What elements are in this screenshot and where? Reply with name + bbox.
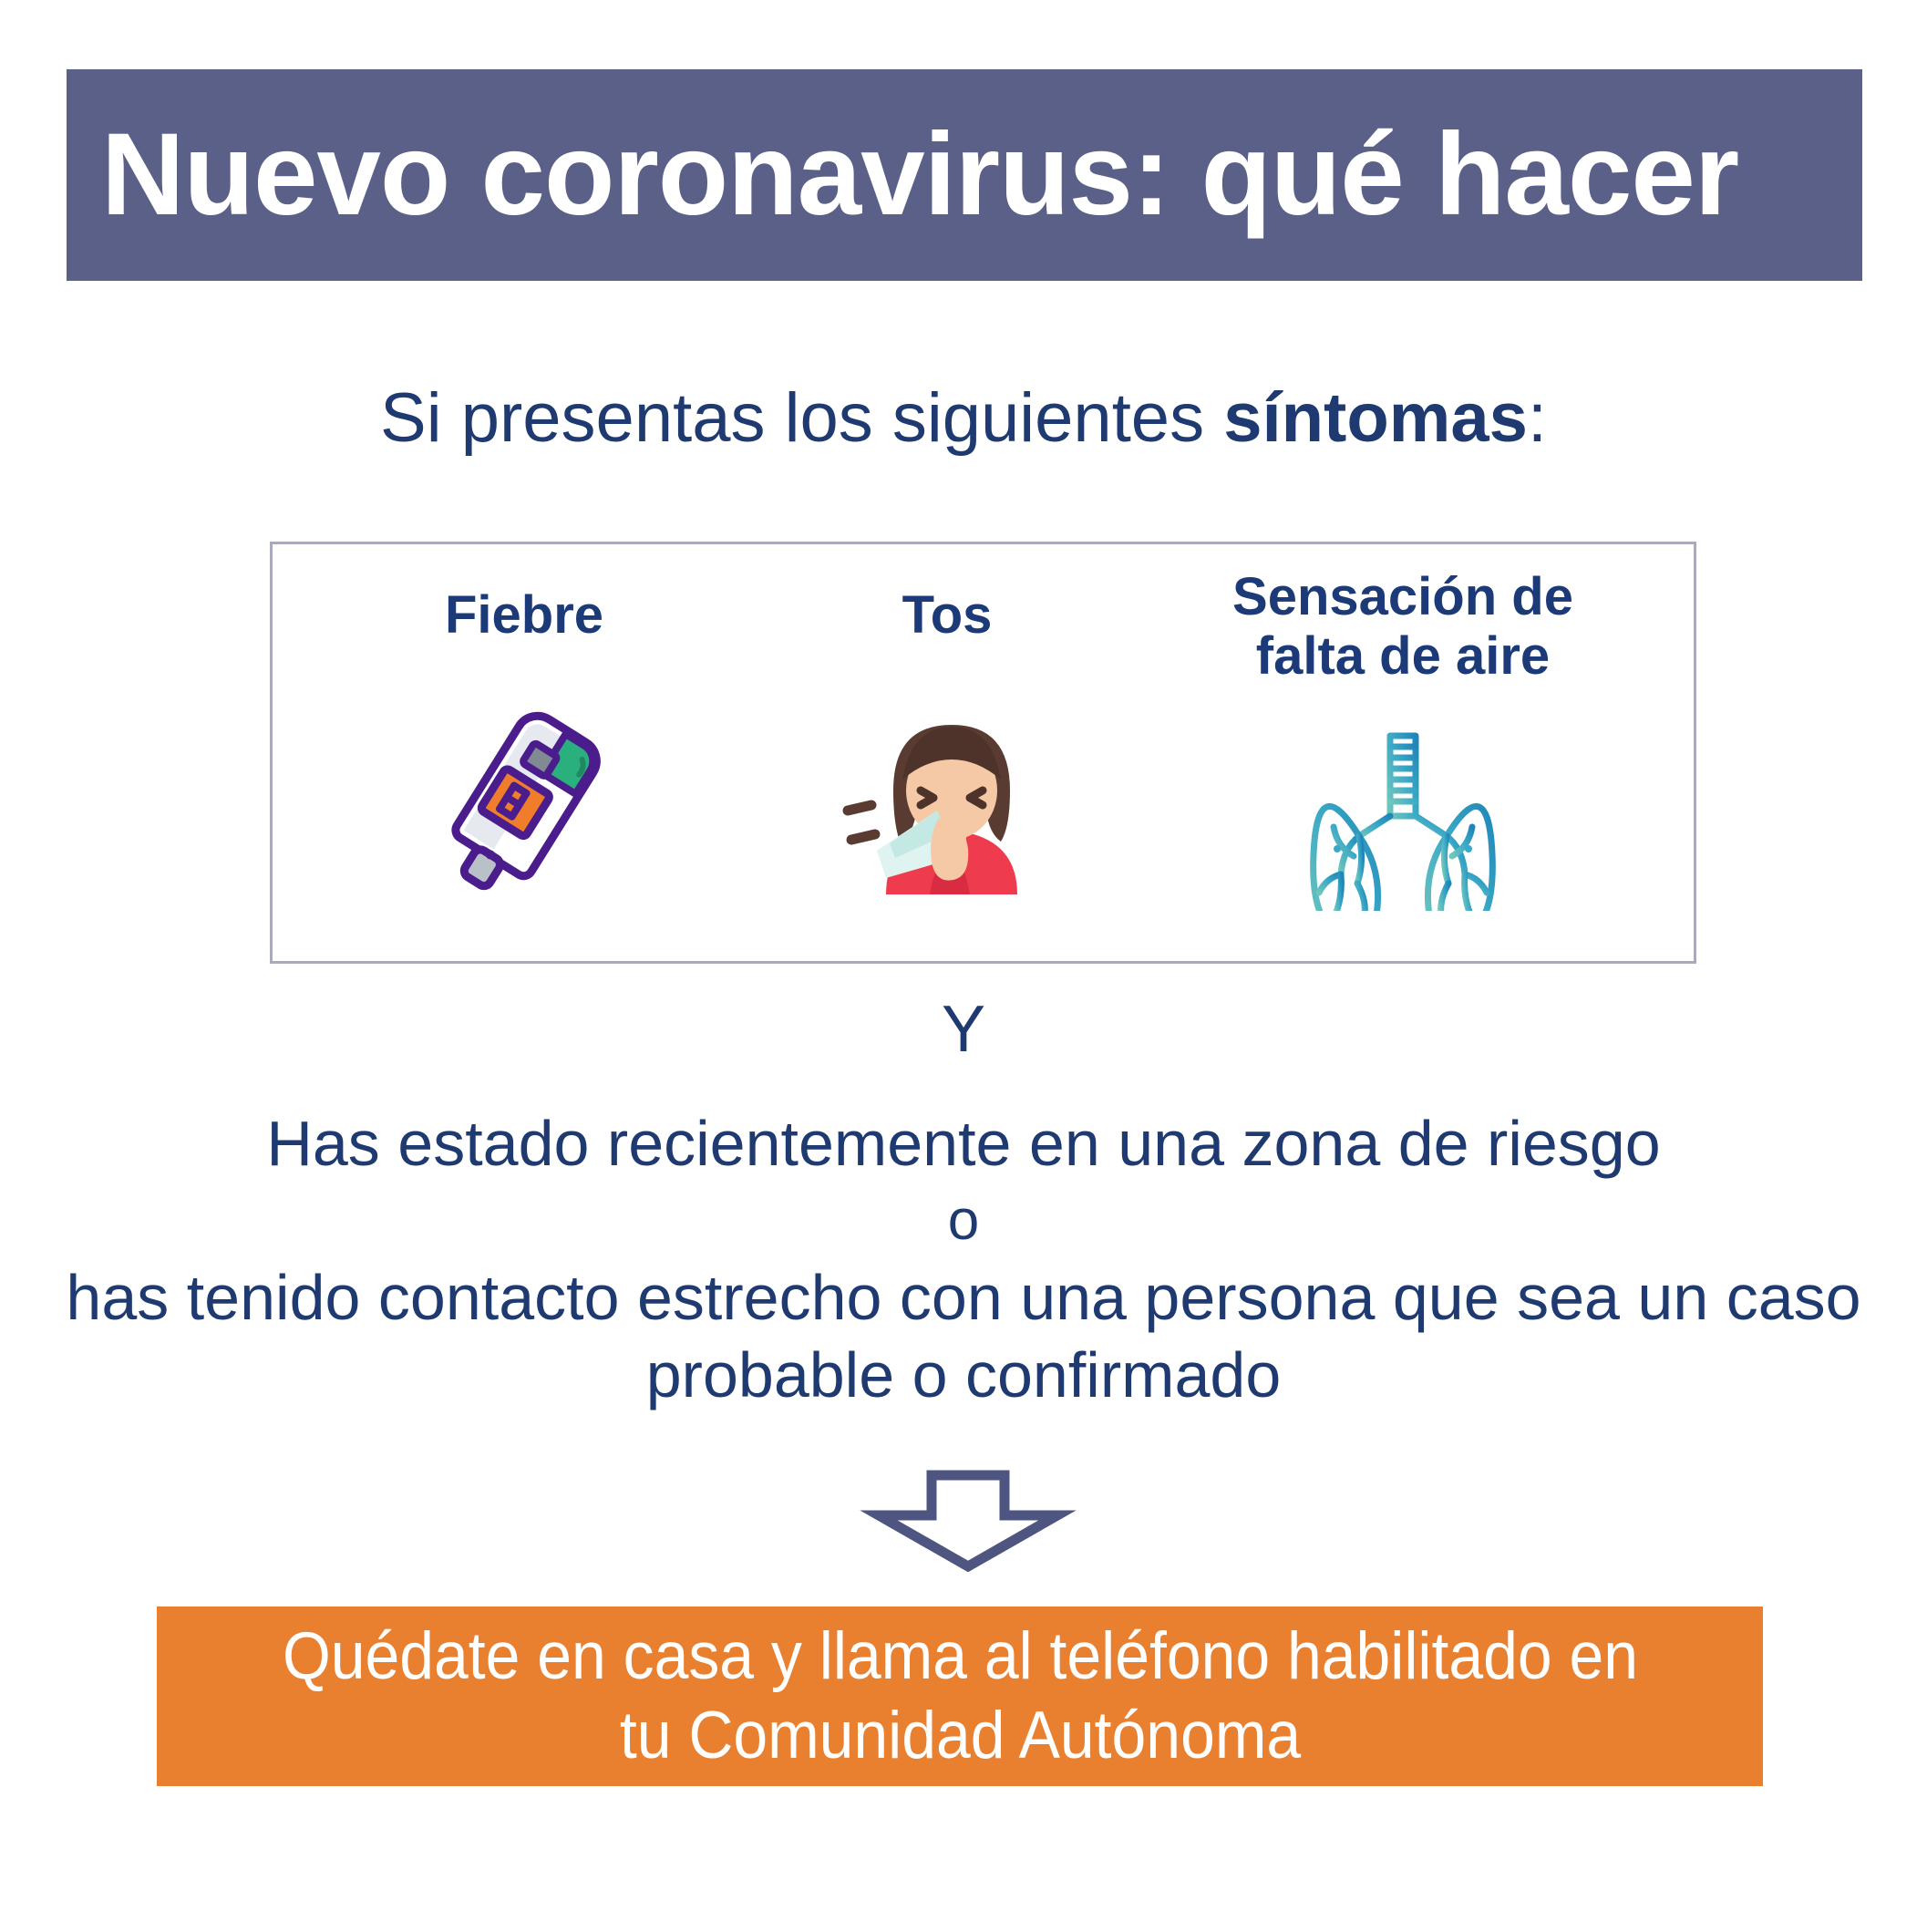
intro-prefix: Si presentas los siguientes xyxy=(380,379,1223,457)
symptom-label: Fiebre xyxy=(445,586,603,646)
thermometer-icon xyxy=(415,691,634,910)
symptom-item-falta-de-aire: Sensación de falta de aire xyxy=(1148,544,1658,961)
lungs-icon xyxy=(1303,719,1503,911)
conditions-block: Has estado recientemente en una zona de … xyxy=(0,1105,1927,1415)
arrow-down-container xyxy=(855,1470,1081,1572)
symptom-icon-container xyxy=(1148,687,1658,961)
cta-banner: Quédate en casa y llama al teléfono habi… xyxy=(157,1607,1763,1786)
intro-suffix: : xyxy=(1528,379,1547,457)
arrow-down-icon xyxy=(855,1470,1081,1572)
coughing-person-icon xyxy=(842,703,1052,894)
symptom-label: Tos xyxy=(902,586,993,646)
symptom-label: Sensación de falta de aire xyxy=(1232,568,1573,687)
page-title: Nuevo coronavirus: qué hacer xyxy=(101,117,1738,233)
title-banner: Nuevo coronavirus: qué hacer xyxy=(67,69,1862,281)
condition-line-3: probable o confirmado xyxy=(0,1337,1927,1414)
intro-line: Si presentas los siguientes síntomas: xyxy=(0,381,1927,456)
symptom-item-fiebre: Fiebre xyxy=(305,544,743,961)
condition-line-1: Has estado recientemente en una zona de … xyxy=(0,1105,1927,1183)
symptom-icon-container xyxy=(756,646,1139,961)
symptom-icon-container xyxy=(305,646,743,961)
symptom-item-tos: Tos xyxy=(756,544,1139,961)
cta-text: Quédate en casa y llama al teléfono habi… xyxy=(282,1617,1637,1774)
conjunction-and: Y xyxy=(0,997,1927,1062)
conjunction-or: o xyxy=(0,1183,1927,1259)
intro-emphasis: síntomas xyxy=(1223,379,1528,457)
symptoms-box: Fiebre xyxy=(270,542,1696,964)
condition-line-2: has tenido contacto estrecho con una per… xyxy=(0,1259,1927,1337)
